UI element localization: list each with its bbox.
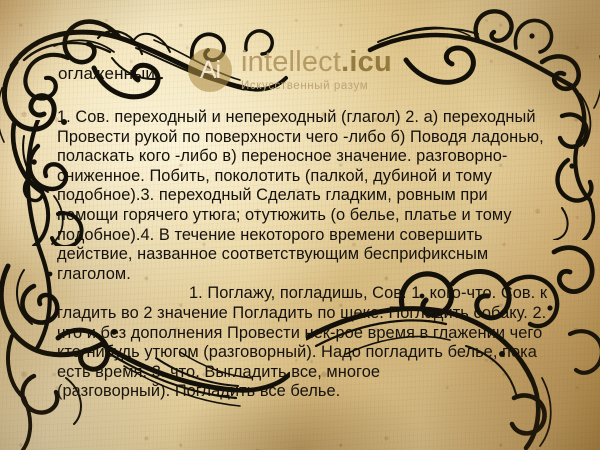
watermark-brand-main: intellect [241, 46, 341, 78]
dictionary-entry-body: 1. Сов. переходный и непереходный (глаго… [57, 108, 549, 402]
watermark: Ai intellect.icu Искусственный разум [188, 48, 392, 93]
watermark-subtitle: Искусственный разум [241, 81, 392, 93]
watermark-brand: intellect.icu [241, 48, 392, 77]
entry-paragraph-2: 1. Поглажу, погладишь, Сов. 1. кого-что.… [57, 284, 549, 382]
watermark-text: intellect.icu Искусственный разум [241, 48, 392, 93]
entry-paragraph-3: (разговорный). Погладить все белье. [57, 382, 549, 402]
presentation-slide: Ai intellect.icu Искусственный разум огл… [0, 0, 600, 450]
ai-badge-icon: Ai [188, 48, 232, 92]
watermark-brand-tld: .icu [341, 46, 392, 78]
page-title: оглаженный [58, 64, 155, 84]
entry-paragraph-1: 1. Сов. переходный и непереходный (глаго… [57, 108, 549, 284]
